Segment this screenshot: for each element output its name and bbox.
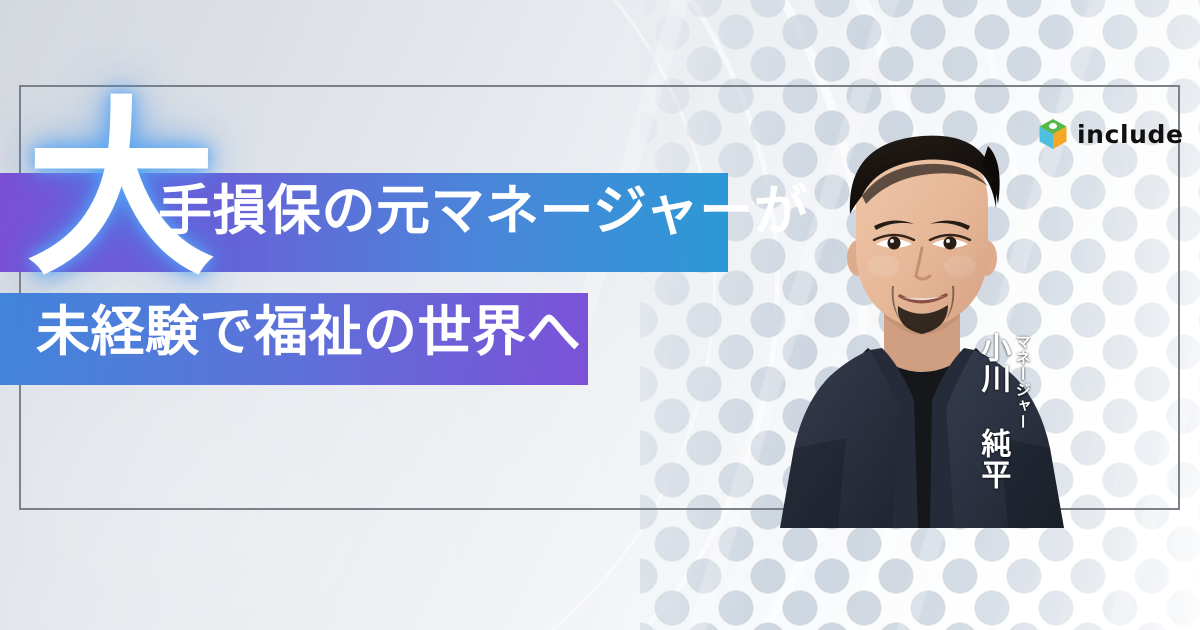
banner-root: マネージャー 小川 純平 大 手損保の元マネージャーが 未経験で福祉の世界へ i… — [0, 0, 1200, 630]
person-portrait — [742, 108, 1102, 528]
logo-wordmark: include — [1077, 122, 1184, 147]
headline-line-1: 手損保の元マネージャーが — [158, 184, 808, 238]
cube-logo-icon — [1038, 118, 1068, 150]
headline-line-2: 未経験で福祉の世界へ — [36, 305, 581, 359]
person-role: マネージャー — [1012, 332, 1030, 430]
person-name: 小川 純平 — [975, 332, 1010, 490]
person-name-block: マネージャー 小川 純平 — [975, 332, 1031, 490]
include-logo[interactable]: include — [1038, 118, 1184, 150]
